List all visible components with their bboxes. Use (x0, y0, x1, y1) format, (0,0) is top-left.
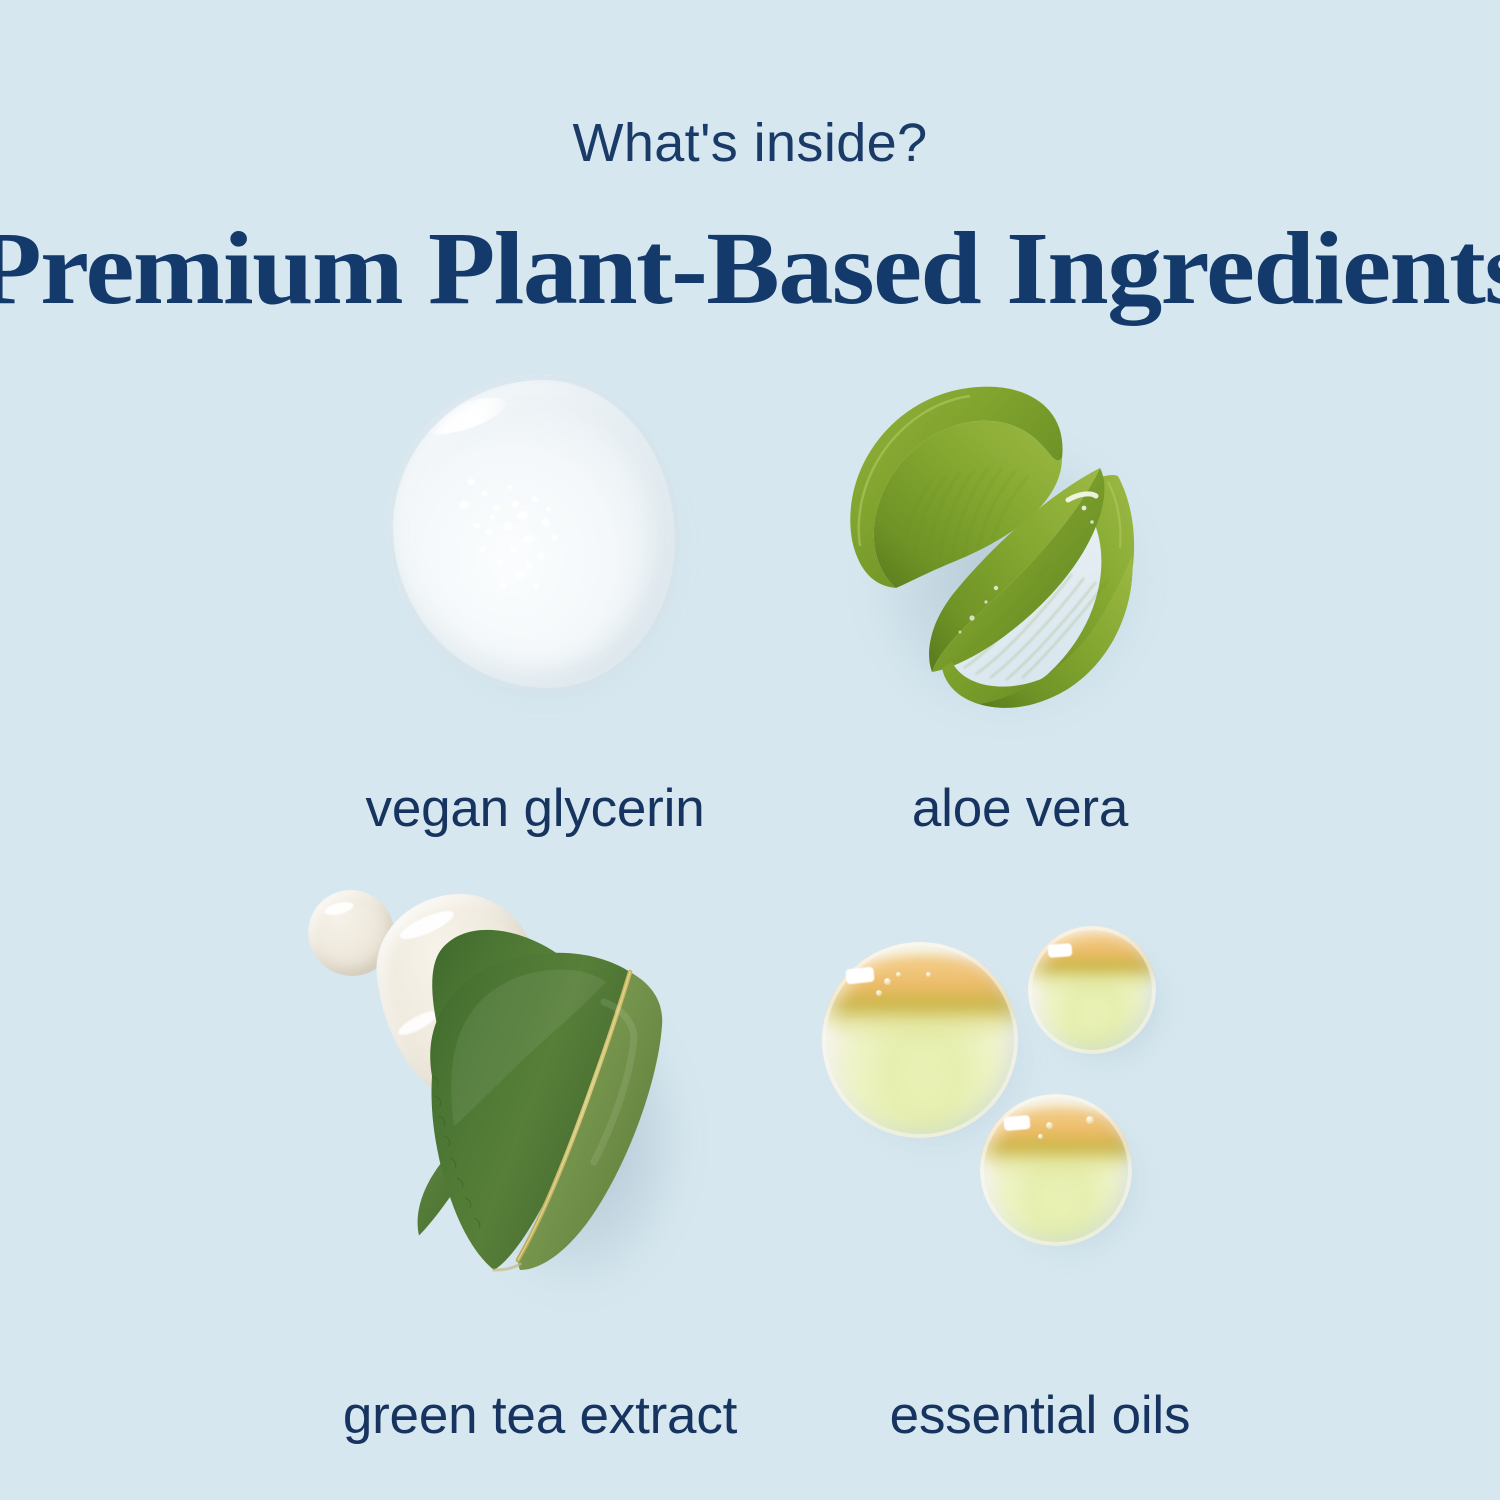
ingredient-label-green-tea-extract: green tea extract (230, 1385, 850, 1446)
ingredient-card-aloe-vera: aloe vera (770, 350, 1270, 880)
oil-droplet-medium-icon (980, 1094, 1132, 1246)
glycerin-gel-blob-icon (388, 375, 680, 693)
ingredients-poster: What's inside? Premium Plant-Based Ingre… (0, 0, 1500, 1500)
ingredient-label-aloe-vera: aloe vera (770, 778, 1270, 839)
ingredient-card-green-tea-extract: green tea extract (230, 870, 850, 1490)
ingredient-card-vegan-glycerin: vegan glycerin (260, 360, 810, 880)
aloe-vera-icon (800, 350, 1180, 750)
page-title: Premium Plant-Based Ingredients (0, 214, 1500, 323)
oil-droplet-medium-highlight (1003, 1115, 1030, 1131)
oil-droplet-small-icon (1028, 926, 1156, 1054)
eyebrow-text: What's inside? (0, 112, 1500, 174)
ingredient-grid: vegan glycerin (0, 350, 1500, 1500)
green-tea-leaf-icon (280, 870, 800, 1370)
ingredient-card-essential-oils: essential oils (790, 890, 1290, 1490)
glycerin-rim (388, 375, 680, 693)
ingredient-label-essential-oils: essential oils (790, 1385, 1290, 1446)
ingredient-label-vegan-glycerin: vegan glycerin (260, 778, 810, 839)
oil-droplet-large-highlight (845, 967, 874, 985)
oil-droplet-small-highlight (1048, 943, 1073, 958)
